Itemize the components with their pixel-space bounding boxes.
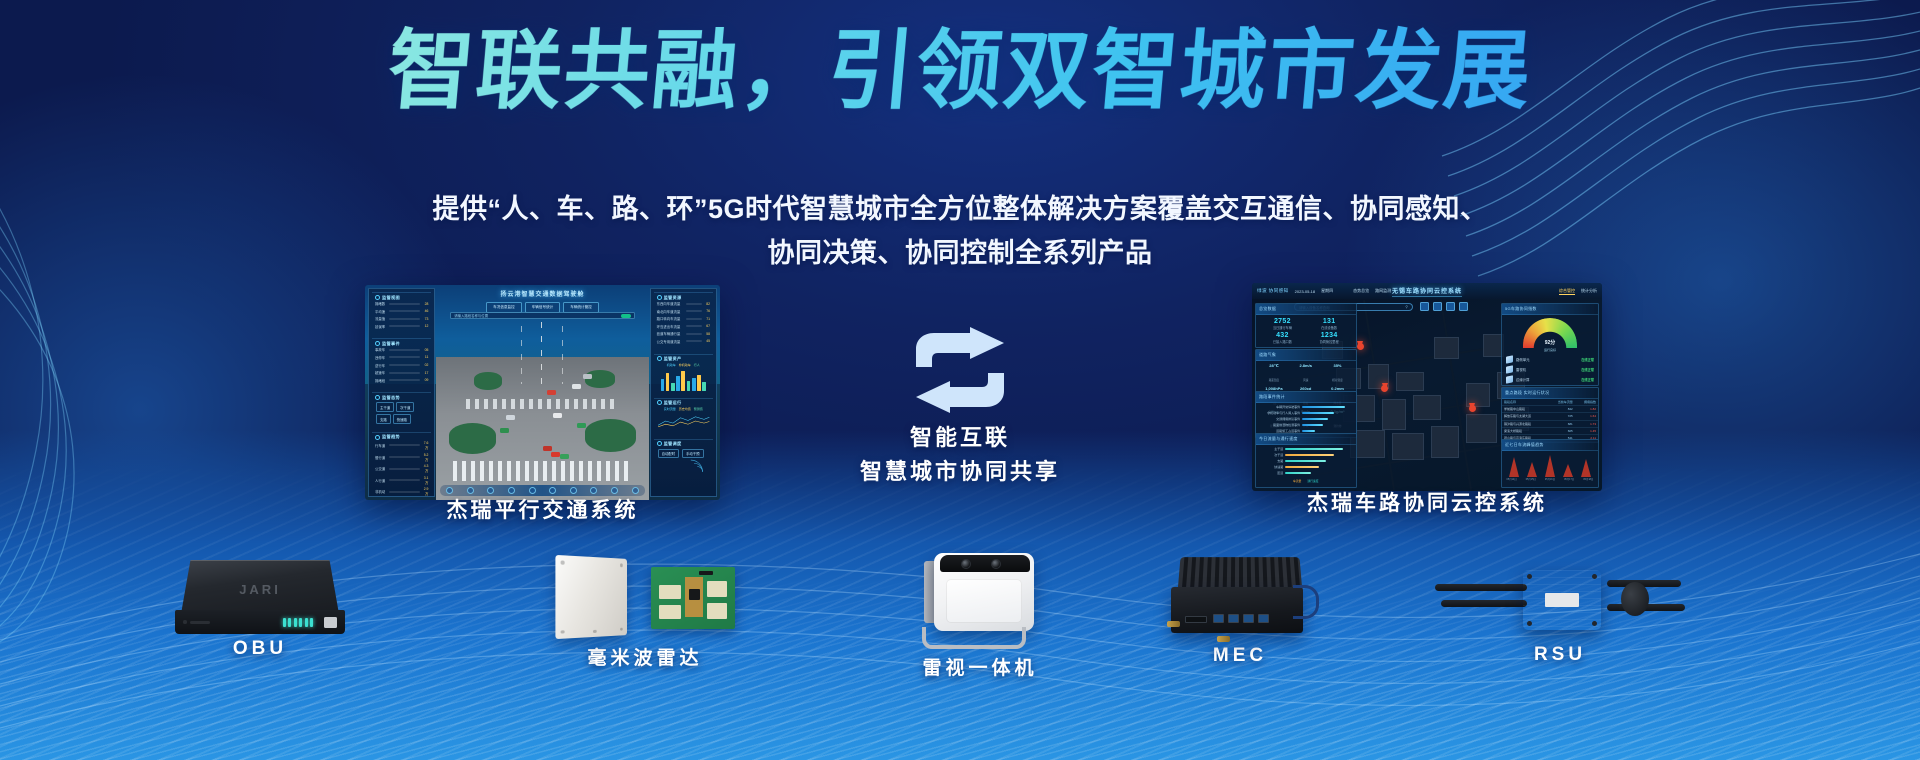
page-title: 智联共融，引领双智城市发展 (0, 22, 1920, 122)
dock-icon-6[interactable] (549, 487, 556, 494)
dashboard-right-sidebar[interactable]: 监管资源 东西向车道流量82 南北向车道流量76 路口转向车流量71 环岛进出车… (650, 288, 717, 497)
cloud-control-title: 无锡车路协同云控系统 (1392, 286, 1462, 297)
bar-value: 82 (704, 302, 710, 306)
traffic-row: 匝道 (1256, 471, 1356, 477)
assets-bar-chart (657, 369, 710, 391)
kpi-item: 2752当日通行车辆 (1259, 318, 1306, 330)
left-panel-caption: 杰瑞平行交通系统 (365, 494, 720, 524)
table-row: 梁溪大桥路段6051.45 (1502, 427, 1598, 434)
vehicle-layer-icon[interactable] (1433, 302, 1442, 311)
product-label-mec: MEC (1130, 645, 1350, 667)
bar-value: 12 (422, 324, 428, 328)
bar-value: 5.2万 (422, 453, 428, 462)
card-monitor-trend: 监管趋势 行车道7.6万 慢行道5.2万 公交道4.3万 人行道3.1万 非机动… (372, 432, 431, 500)
card-monitor-dispatch: 监管调度 自动配时 手动干预 (654, 439, 713, 479)
map-pin-2[interactable] (1382, 383, 1388, 392)
product-obu[interactable]: JARI OBU (140, 560, 380, 660)
axis-tick: 05月14日 (1507, 477, 1517, 481)
dashboard-search-bar[interactable]: 请输入路段名称与位置 (450, 312, 635, 319)
search-icon[interactable]: ⚲ (1406, 305, 1408, 309)
bar-value: 3.1万 (422, 476, 428, 485)
bar-label: 逆行车 (375, 363, 387, 368)
card-road-events: 路段事件统计 车辆异常停驶事件 非机动车与行人闯入事件 交通拥堵排队事件 路面抛… (1255, 391, 1357, 438)
weather-item: 2.8m/s风速 (1290, 363, 1322, 386)
bar-label: 超速车 (375, 370, 387, 375)
product-label-obu: OBU (140, 638, 380, 660)
camera-lens-left-icon (962, 560, 970, 568)
axis-tick: 05月15日 (1526, 477, 1536, 481)
bar-label: 东西向车道流量 (657, 301, 685, 306)
mec-hdmi-port (1185, 616, 1207, 623)
card-title: 监管态势 (375, 395, 400, 401)
bar-value: 58 (704, 332, 710, 336)
radar-camera-image (920, 545, 1040, 649)
bar-value: 17 (422, 371, 428, 375)
card-title: 监管视图 (375, 295, 400, 301)
device-status-row: 边缘计算在线正常 (1502, 374, 1598, 384)
kpi-value: 131 (1306, 318, 1353, 325)
device-status-row: 雷视机在线正常 (1502, 364, 1598, 374)
peak-trend-chart (1502, 451, 1598, 477)
card-title: 监管资产 (657, 356, 682, 362)
table-row: 学前路中山路段8421.82 (1502, 406, 1598, 413)
product-rsu[interactable]: RSU (1425, 560, 1695, 666)
card-title: 监管事件 (375, 341, 400, 347)
card-title: 5G车路协同指数 (1502, 304, 1598, 315)
axis-tick: 05月17日 (1564, 477, 1574, 481)
interconnection-text: 智能互联 智慧城市协同共享 (795, 421, 1125, 489)
bar-label: 拥堵数 (375, 301, 387, 306)
card-title: 监管运行 (657, 400, 682, 406)
bar-label: 路口转向车流量 (657, 316, 685, 321)
chip-road-type[interactable]: 支路 (376, 414, 391, 424)
bar-label: 事故车 (375, 347, 387, 352)
header-left-text: 绿波 协同感知 (1257, 288, 1289, 294)
nav-tab-4[interactable]: 统计分析 (1581, 288, 1597, 294)
card-monitor-operation: 监管运行 实时流量 历史均值 预测值 (654, 398, 713, 435)
map-pin-1[interactable] (1357, 341, 1363, 350)
card-monitor-resources: 监管资源 东西向车道流量82 南北向车道流量76 路口转向车流量71 环岛进出车… (654, 292, 713, 350)
device-cube-icon (1506, 365, 1513, 373)
table-row: 锡沪路与兴源北路段6811.73 (1502, 420, 1598, 427)
intersection-3d-scene (436, 307, 649, 501)
axis-tick: 05月16日 (1545, 477, 1555, 481)
legend-item: 通行速度 (1307, 479, 1318, 483)
card-monitor-events: 监管事件 事故车05 违停车11 逆行车02 超速车17 拥堵段09 (372, 338, 431, 388)
camera-bracket (922, 627, 1026, 649)
header-weekday: 星期四 (1321, 288, 1333, 294)
cloud-control-system-screenshot[interactable]: 绿波 协同感知 2023-05-18 星期四 态势总览 路网监测 无锡车路协同云… (1252, 283, 1602, 491)
legend-item: 非机动车 (679, 363, 691, 367)
bar-value: 67 (704, 324, 710, 328)
mec-chassis (1171, 587, 1303, 633)
card-monitor-view: 监管视图 拥堵数28 平均速46 流量值73 延误率12 (372, 292, 431, 334)
dock-icon-2[interactable] (467, 487, 474, 494)
card-title: 今日流量与通行速度 (1256, 434, 1356, 445)
kpi-value: 432 (1259, 332, 1306, 339)
map-layer-icons[interactable] (1420, 302, 1468, 311)
camera-lens-bar (940, 555, 1030, 572)
product-mmwave-radar[interactable]: 毫米波雷达 (540, 555, 750, 670)
card-title: 路段事件统计 (1256, 392, 1356, 403)
product-label-radar: 毫米波雷达 (540, 643, 750, 670)
bar-value: 05 (422, 348, 428, 352)
interconnection-block: 智能互联 智慧城市协同共享 (795, 325, 1125, 489)
mec-antenna-front-icon (1217, 636, 1230, 642)
bar-value: 45 (704, 339, 710, 343)
bar-label: 延误率 (375, 324, 387, 329)
kpi-value: 2752 (1259, 318, 1306, 325)
bar-value: 73 (422, 317, 428, 321)
device-cube-icon (1506, 355, 1513, 363)
exchange-arrows-icon (795, 325, 1125, 415)
dashboard-left-sidebar[interactable]: 监管视图 拥堵数28 平均速46 流量值73 延误率12 监管事件 事故车05 … (368, 288, 435, 497)
bar-value: 28 (422, 302, 428, 306)
card-title: 监管调度 (657, 441, 682, 447)
mec-usb-ports (1213, 614, 1269, 623)
radar-sector-icon (678, 459, 710, 475)
person-layer-icon[interactable] (1420, 302, 1429, 311)
chip-road-type[interactable]: 主干道 (376, 402, 394, 412)
chip-dispatch-mode[interactable]: 自动配时 (658, 449, 680, 459)
nav-tab-active[interactable]: 综合管控 (1559, 288, 1575, 295)
table-row: 解放东路与太湖大道7251.64 (1502, 413, 1598, 420)
dock-icon-7[interactable] (570, 487, 577, 494)
bar-label: 环岛进出车流量 (657, 324, 685, 329)
subtitle-line-1: 提供“人、车、路、环”5G时代智慧城市全方位整体解决方案覆盖交互通信、协同感知、 (400, 188, 1520, 232)
bar-label: 南北向车道流量 (657, 309, 685, 314)
bar-value: 46 (422, 309, 428, 313)
bar-label: 公交专用道流量 (657, 339, 685, 344)
card-peak-trend: 近七日车流峰值趋势 05月14日 05月15日 05月16日 05月17日 05… (1501, 439, 1599, 488)
interconnection-line-2: 智慧城市协同共享 (795, 455, 1125, 489)
dashboard-search-placeholder: 请输入路段名称与位置 (454, 313, 488, 318)
rsu-antenna-left-lower-icon (1441, 600, 1527, 607)
mmwave-radar-image (555, 555, 735, 639)
parallel-traffic-system-screenshot[interactable]: 扬云港智慧交通数据驾驶舱 车况信息监控 车辆信号统计 车辆统计管控 请输入路段名… (365, 285, 720, 500)
card-title: 总览数据 (1256, 304, 1356, 315)
radar-enclosure (555, 555, 627, 639)
bar-label: 匝道车辆通行量 (657, 331, 685, 336)
rsu-antenna-left-upper-icon (1435, 584, 1527, 591)
dock-icon-1[interactable] (446, 487, 453, 494)
nav-tab-0[interactable]: 态势总览 (1353, 288, 1369, 294)
obu-brand-logo: JARI (239, 582, 281, 597)
gauge-value: 92分 (1545, 339, 1556, 346)
card-title: 道路气象 (1256, 350, 1356, 361)
product-label-camera: 雷视一体机 (880, 653, 1080, 680)
product-mec[interactable]: MEC (1130, 555, 1350, 667)
realtime-data-toggle[interactable] (621, 314, 631, 318)
bar-value: 4.3万 (422, 464, 428, 473)
ethernet-port-icon (324, 617, 337, 628)
camera-lens-right-icon (992, 560, 1000, 568)
card-title: 近七日车流峰值趋势 (1502, 440, 1598, 451)
weather-item: 28℃路面温度 (1258, 363, 1290, 386)
axis-tick: 05月18日 (1583, 477, 1593, 481)
rsu-dome-antenna-icon (1621, 582, 1649, 616)
rsu-chassis (1523, 570, 1601, 630)
legend-item: 车流量 (1293, 479, 1301, 483)
weather-item: 35%相对湿度 (1322, 363, 1354, 386)
exchange-arrows-svg (908, 327, 1012, 413)
card-title: 重点路段 实时运行状况 (1502, 388, 1598, 399)
bar-value: 76 (704, 309, 710, 313)
chip-dispatch-mode[interactable]: 手动干预 (682, 449, 704, 459)
interconnection-line-1: 智能互联 (795, 421, 1125, 455)
card-traffic-speed: 今日流量与通行速度 主干道 次干道 支路 快速路 匝道 车流量 通行速度 (1255, 433, 1357, 488)
dashboard-screen-title: 扬云港智慧交通数据驾驶舱 (500, 289, 584, 298)
card-title: 监管趋势 (375, 434, 400, 440)
camera-front-plate (946, 579, 1022, 623)
chip-road-type[interactable]: 次干道 (396, 402, 414, 412)
mec-power-cable (1293, 585, 1319, 619)
dock-icon-4[interactable] (508, 487, 515, 494)
chip-road-type[interactable]: 快速路 (393, 414, 411, 424)
obu-device-image: JARI (175, 560, 345, 634)
legend-item: 机动车 (667, 363, 676, 367)
card-key-roads-table: 重点路段 实时运行状况 路段名称 当前车流量 拥堵指数 学前路中山路段8421.… (1501, 387, 1599, 443)
card-title: 监管资源 (657, 295, 682, 301)
bar-label: 流量值 (375, 316, 387, 321)
device-cube-icon (1506, 375, 1513, 383)
radar-pcb-board (651, 567, 735, 629)
bar-value: 09 (422, 378, 428, 382)
bar-value: 02 (422, 363, 428, 367)
operation-line-chart (657, 411, 710, 431)
card-5g-index: 5G车路协同指数 92分 运行良好 路侧单元在线正常 雷视机在线正常 边缘计算在… (1501, 303, 1599, 386)
dock-icon-5[interactable] (529, 487, 536, 494)
kpi-grid: 2752当日通行车辆 131在线设备数 432已接入路口数 1234协同管控里程 (1256, 315, 1356, 347)
header-date: 2023-05-18 (1295, 289, 1315, 294)
legend-item: 行人 (694, 363, 700, 367)
mec-antenna-left-icon (1167, 621, 1180, 627)
dock-icon-9[interactable] (611, 487, 618, 494)
card-monitor-situation: 监管态势 主干道 次干道 支路 快速路 (372, 392, 431, 428)
dock-icon-3[interactable] (487, 487, 494, 494)
product-radar-camera[interactable]: 雷视一体机 (880, 545, 1080, 680)
bar-value: 11 (422, 355, 428, 359)
bar-label: 慢行道 (375, 455, 387, 460)
bar-label: 行车道 (375, 443, 387, 448)
card-overview-data: 总览数据 2752当日通行车辆 131在线设备数 432已接入路口数 1234协… (1255, 303, 1357, 348)
nav-tab-1[interactable]: 路网监测 (1375, 288, 1391, 294)
card-monitor-assets: 监管资产 机动车 非机动车 行人 (654, 354, 713, 394)
cloud-control-header[interactable]: 绿波 协同感知 2023-05-18 星期四 态势总览 路网监测 无锡车路协同云… (1252, 283, 1602, 299)
kpi-label: 已接入路口数 (1259, 339, 1306, 344)
cloud-layer-icon[interactable] (1459, 302, 1468, 311)
kpi-label: 当日通行车辆 (1259, 325, 1306, 330)
bar-label: 公交道 (375, 466, 387, 471)
road-layer-icon[interactable] (1446, 302, 1455, 311)
mec-device-image (1165, 555, 1315, 641)
bar-value: 71 (704, 317, 710, 321)
bar-label: 违停车 (375, 355, 387, 360)
dock-icon-more[interactable] (632, 487, 639, 494)
product-label-rsu: RSU (1425, 644, 1695, 666)
bar-label: 平均速 (375, 309, 387, 314)
key-roads-table: 路段名称 当前车流量 拥堵指数 学前路中山路段8421.82 解放东路与太湖大道… (1502, 399, 1598, 442)
kpi-value: 1234 (1306, 332, 1353, 339)
bar-label: 人行道 (375, 478, 387, 483)
table-header-row: 路段名称 当前车流量 拥堵指数 (1502, 399, 1598, 406)
kpi-item: 432已接入路口数 (1259, 332, 1306, 344)
subtitle-line-2: 协同决策、协同控制全系列产品 (400, 232, 1520, 276)
right-panel-caption: 杰瑞车路协同云控系统 (1252, 487, 1602, 517)
kpi-item: 1234协同管控里程 (1306, 332, 1353, 344)
bar-label: 拥堵段 (375, 378, 387, 383)
kpi-item: 131在线设备数 (1306, 318, 1353, 330)
kpi-label: 协同管控里程 (1306, 339, 1353, 344)
kpi-label: 在线设备数 (1306, 325, 1353, 330)
rsu-nameplate (1545, 593, 1579, 607)
rsu-device-image (1435, 560, 1685, 640)
page-subtitle: 提供“人、车、路、环”5G时代智慧城市全方位整体解决方案覆盖交互通信、协同感知、… (400, 188, 1520, 275)
device-status-row: 路侧单元在线正常 (1502, 354, 1598, 364)
dashboard-screen-title-bar: 扬云港智慧交通数据驾驶舱 (436, 288, 649, 299)
dock-icon-8[interactable] (590, 487, 597, 494)
banner-stage: 智联共融，引领双智城市发展 提供“人、车、路、环”5G时代智慧城市全方位整体解决… (0, 0, 1920, 760)
bar-value: 7.6万 (422, 441, 428, 450)
map-pin-3[interactable] (1469, 403, 1475, 412)
